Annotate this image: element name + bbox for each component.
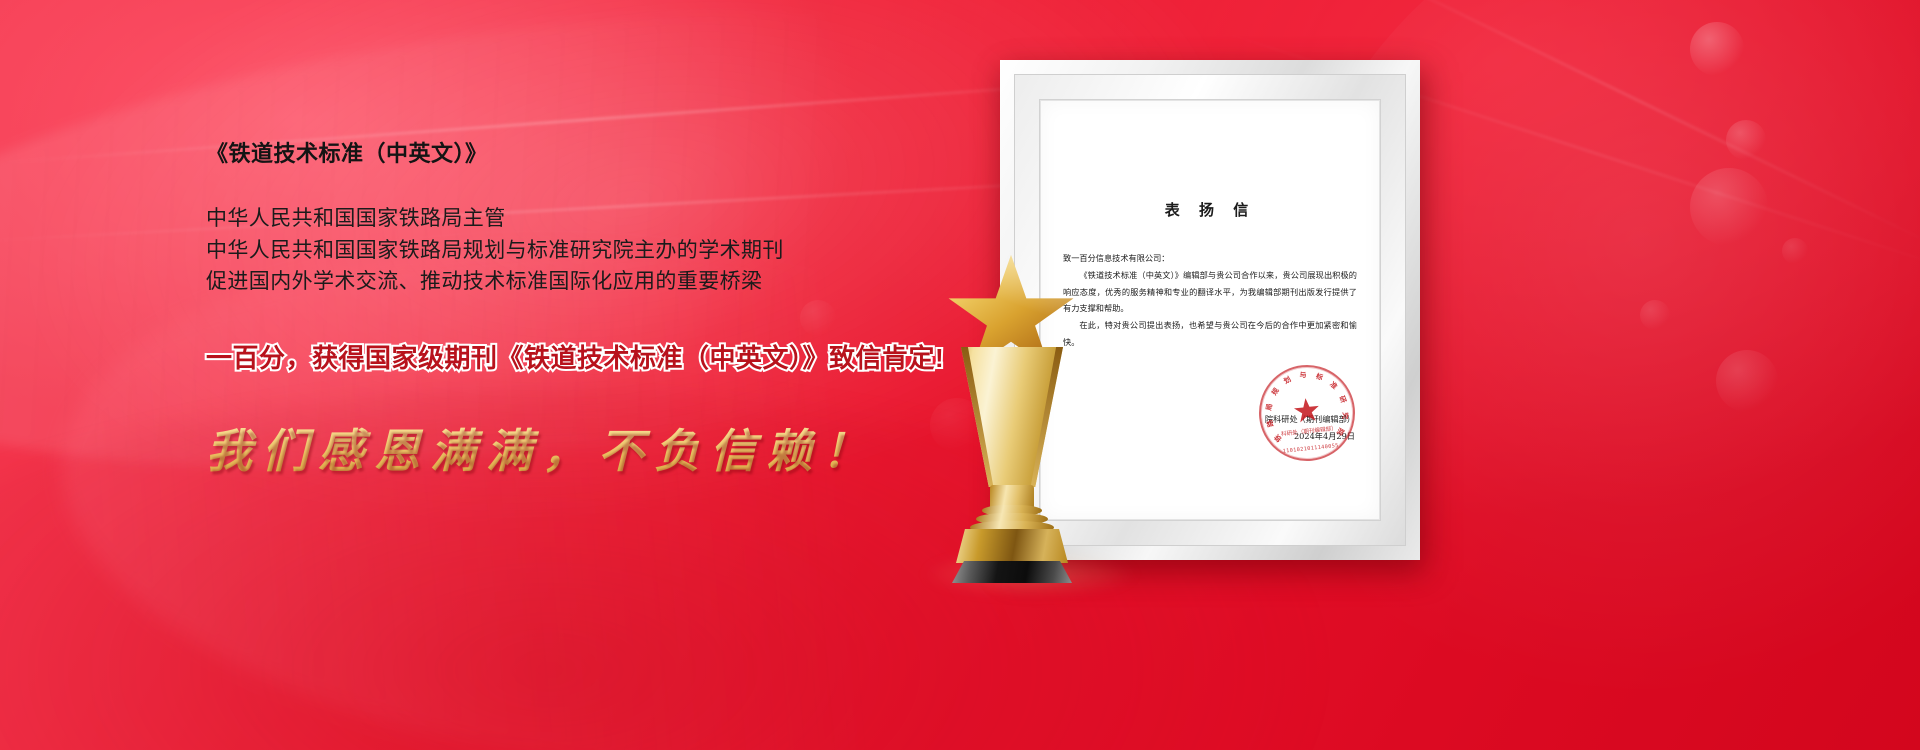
stamp-arc-char: 研: [1337, 394, 1349, 404]
bokeh-circle: [1726, 120, 1766, 160]
bokeh-circle: [1782, 238, 1808, 264]
journal-description-list: 中华人民共和国国家铁路局主管 中华人民共和国国家铁路局规划与标准研究院主办的学术…: [206, 203, 1046, 299]
bokeh-circle: [1640, 300, 1670, 330]
journal-description-line-2: 中华人民共和国国家铁路局规划与标准研究院主办的学术期刊: [206, 235, 1046, 267]
headline-text: 一百分，获得国家级期刊《铁道技术标准（中英文）》致信肯定!: [206, 338, 1046, 375]
journal-description-line-1: 中华人民共和国国家铁路局主管: [206, 203, 1046, 235]
journal-title: 《铁道技术标准（中英文）》: [206, 140, 1046, 169]
stamp-arc-char: 划: [1282, 374, 1293, 386]
banner-stage: 《铁道技术标准（中英文）》 中华人民共和国国家铁路局主管 中华人民共和国国家铁路…: [0, 0, 1920, 750]
stamp-arc-char: 究: [1340, 412, 1350, 420]
stamp-arc-char: 与: [1299, 370, 1307, 381]
stamp-arc-char: 标: [1314, 371, 1324, 383]
banner-copy-block: 《铁道技术标准（中英文）》 中华人民共和国国家铁路局主管 中华人民共和国国家铁路…: [206, 140, 1046, 481]
stamp-arc-char: 局: [1264, 403, 1275, 411]
bokeh-circle: [1716, 350, 1778, 412]
journal-description-line-3: 促进国内外学术交流、推动技术标准国际化应用的重要桥梁: [206, 266, 1046, 298]
stamp-arc-char: 路: [1265, 419, 1277, 428]
certificate-title: 表 扬 信: [1041, 199, 1379, 220]
stamp-arc-char: 规: [1269, 386, 1281, 397]
bokeh-circle: [1690, 168, 1768, 246]
official-stamp-icon: 铁路局规划与标准研究院 科研处（期刊编辑部） 1101021011140055: [1254, 360, 1360, 466]
trophy-base: [956, 529, 1068, 563]
trophy-icon: [930, 255, 1130, 565]
bokeh-circle: [1690, 22, 1744, 76]
stamp-arc-char: 准: [1327, 380, 1339, 392]
gratitude-calligraphy: 我们感恩满满，不负信赖！: [206, 415, 1046, 481]
trophy-plinth: [952, 561, 1072, 583]
